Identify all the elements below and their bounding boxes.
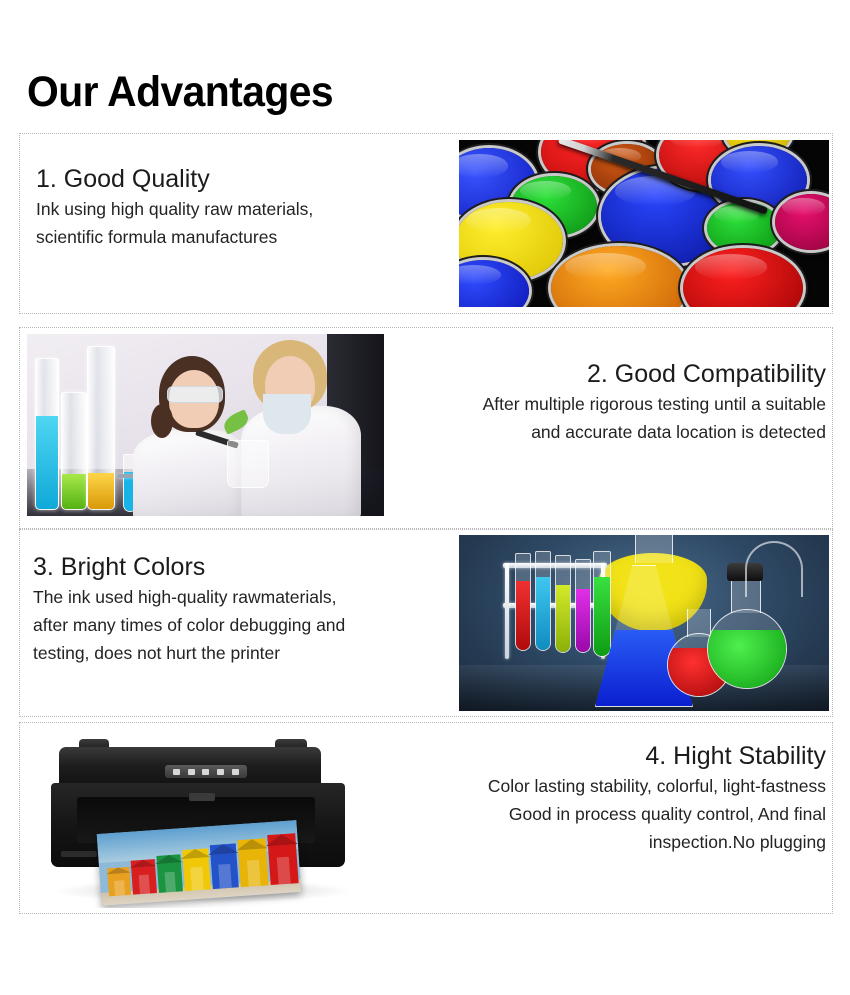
advantage-text-block-2: 2. Good Compatibility After multiple rig… [388,360,826,446]
advantage-body-line: and accurate data location is detected [388,418,826,446]
scientist-a-goggles [167,386,223,403]
laboratory-scientists-photo [27,334,384,516]
beach-hut [156,854,183,893]
scientist-b-face-mask [263,394,311,434]
beach-hut [131,859,157,895]
printer-button-4[interactable] [232,769,239,775]
advantage-body-line: The ink used high-quality rawmaterials, [33,583,453,611]
printed-photo-beach-huts [97,820,302,906]
sample-beaker [227,440,269,488]
beach-hut [237,838,268,887]
scientist-a-ponytail [151,404,173,438]
advantage-body-line: After multiple rigorous testing until a … [388,390,826,418]
paint-cans-photo [459,140,829,307]
advantage-heading-1: 1. Good Quality [36,165,436,195]
glass-tubing [745,541,803,597]
printer-latch [189,793,215,801]
test-tube-red [515,553,531,651]
printer-button-2[interactable] [202,769,209,775]
advantage-body-2: After multiple rigorous testing until a … [388,390,826,447]
printer-power-button[interactable] [173,769,180,775]
advantage-text-block-1: 1. Good Quality Ink using high quality r… [36,165,436,251]
inkjet-printer-photo [43,733,370,908]
green-round-flask [707,609,787,689]
printer-button-3[interactable] [217,769,224,775]
beach-hut [210,843,239,889]
beach-hut [182,848,211,891]
test-tube-lime [555,555,571,653]
graduated-cylinder-2 [61,392,87,510]
advantage-heading-2: 2. Good Compatibility [388,360,826,390]
advantage-heading-3: 3. Bright Colors [33,553,453,583]
glassware-canvas [459,535,829,711]
laboratory-canvas [27,334,384,516]
advantage-body-line: Ink using high quality raw materials, [36,195,436,223]
paint-can-magenta [775,194,829,250]
rack-leg-left [505,563,509,659]
advantage-body-line: testing, does not hurt the printer [33,639,453,667]
advantage-body-4: Color lasting stability, colorful, light… [392,772,826,857]
advantage-body-line: Good in process quality control, And fin… [392,800,826,828]
test-tube-cyan [535,551,551,651]
graduated-cylinder-1 [35,358,59,510]
printer-indicator-light [61,851,97,857]
advantage-body-1: Ink using high quality raw materials, sc… [36,195,436,252]
advantage-text-block-3: 3. Bright Colors The ink used high-quali… [33,553,453,668]
printer-canvas [43,733,370,908]
beach-hut [107,866,131,896]
advantage-body-line: after many times of color debugging and [33,611,453,639]
page-title: Our Advantages [27,71,333,114]
test-tube-magenta [575,559,591,653]
advantage-body-line: Color lasting stability, colorful, light… [392,772,826,800]
yellow-flask-neck [635,535,673,563]
paint-can-green-2 [707,202,781,254]
advantage-body-3: The ink used high-quality rawmaterials, … [33,583,453,668]
test-tube-green [593,551,611,657]
advantage-heading-4: 4. Hight Stability [392,742,826,772]
advantages-page: Our Advantages 1. Good Quality Ink using… [0,0,850,995]
beach-hut [267,833,298,885]
advantage-body-line: inspection.No plugging [392,828,826,856]
colorful-glassware-photo [459,535,829,711]
printer-button-1[interactable] [188,769,195,775]
advantage-text-block-4: 4. Hight Stability Color lasting stabili… [392,742,826,857]
paint-cans-canvas [459,140,829,307]
advantage-body-line: scientific formula manufactures [36,223,436,251]
printer-control-panel[interactable] [165,765,247,778]
graduated-cylinder-3 [87,346,115,510]
